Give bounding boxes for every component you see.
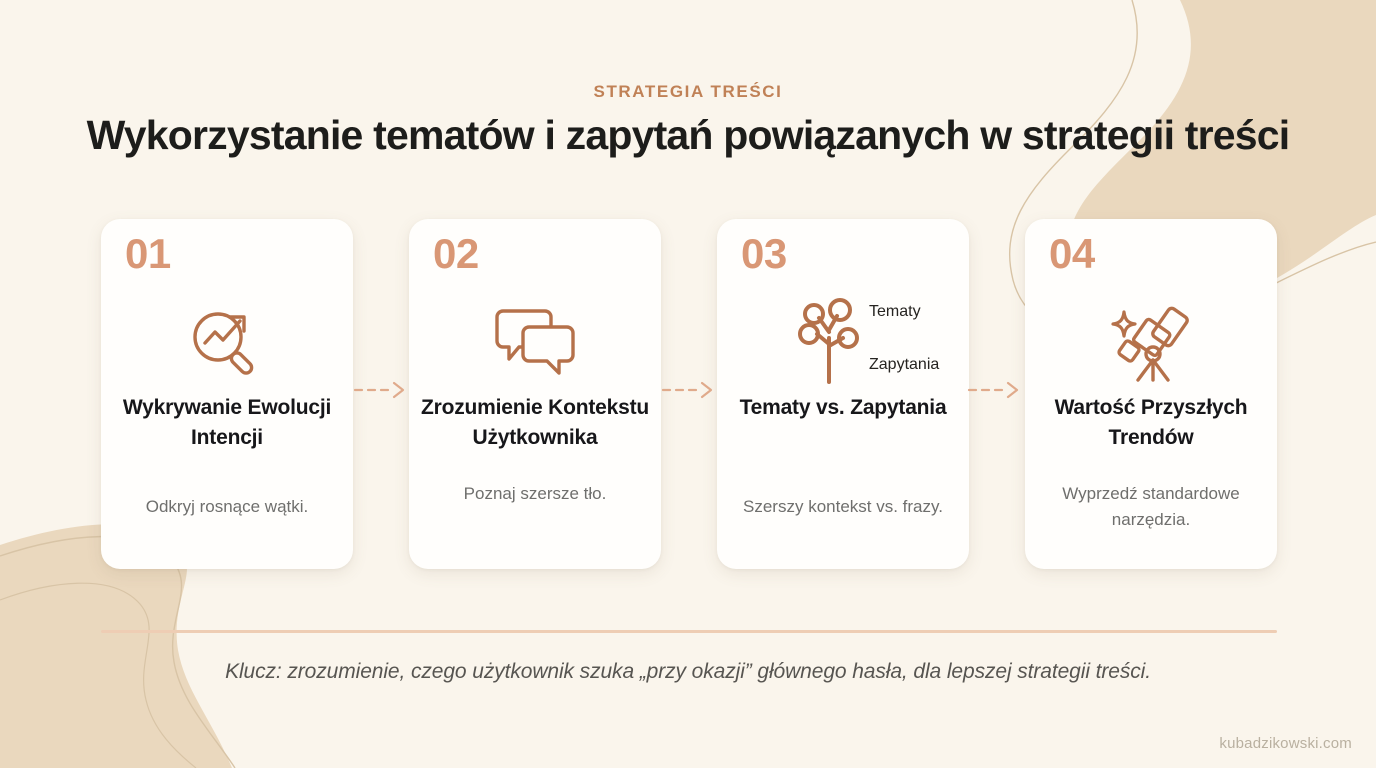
step-card-1[interactable]: 01 Wykrywanie Ewolucji Intencji Odkryj r…: [101, 219, 353, 569]
step-description-2: Poznaj szersze tło.: [417, 481, 653, 507]
step-description-4: Wyprzedź standardowe narzędzia.: [1033, 481, 1269, 532]
arrow-head: [1008, 383, 1017, 397]
step-number-1: 01: [125, 233, 171, 275]
icon-label-tematy: Tematy: [869, 303, 921, 321]
magnifier-trend-icon: [101, 291, 353, 389]
footer-divider: [101, 630, 1277, 633]
arrow-head: [702, 383, 711, 397]
watermark: kubadzikowski.com: [1219, 735, 1352, 752]
infographic-stage: STRATEGIA TREŚCI Wykorzystanie tematów i…: [0, 0, 1376, 768]
footer-note: Klucz: zrozumienie, czego użytkownik szu…: [0, 660, 1376, 684]
step-title-1: Wykrywanie Ewolucji Intencji: [113, 393, 341, 453]
telescope-icon: [1025, 291, 1277, 389]
step-number-4: 04: [1049, 233, 1095, 275]
step-number-2: 02: [433, 233, 479, 275]
step-number-3: 03: [741, 233, 787, 275]
step-card-2[interactable]: 02 Zrozumienie Kontekstu Użytkownika Poz…: [409, 219, 661, 569]
arrow-1-to-2: [353, 377, 411, 403]
topic-tree-icon: Tematy Zapytania: [717, 291, 969, 389]
arrow-3-to-4: [967, 377, 1025, 403]
step-title-4: Wartość Przyszłych Trendów: [1037, 393, 1265, 453]
icon-label-zapytania: Zapytania: [869, 356, 939, 374]
arrow-head: [394, 383, 403, 397]
step-title-3: Tematy vs. Zapytania: [729, 393, 957, 423]
step-card-4[interactable]: 04 Wartość Przyszłych Trendów Wyprzedź s…: [1025, 219, 1277, 569]
speech-bubbles-icon: [409, 291, 661, 389]
step-description-3: Szerszy kontekst vs. frazy.: [725, 494, 961, 520]
step-title-2: Zrozumienie Kontekstu Użytkownika: [421, 393, 649, 453]
page-title: Wykorzystanie tematów i zapytań powiązan…: [0, 112, 1376, 159]
step-description-1: Odkryj rosnące wątki.: [109, 494, 345, 520]
step-card-3[interactable]: 03 Tematy Zapytania Tematy vs. Zapytania: [717, 219, 969, 569]
arrow-2-to-3: [661, 377, 719, 403]
eyebrow-label: STRATEGIA TREŚCI: [0, 82, 1376, 102]
